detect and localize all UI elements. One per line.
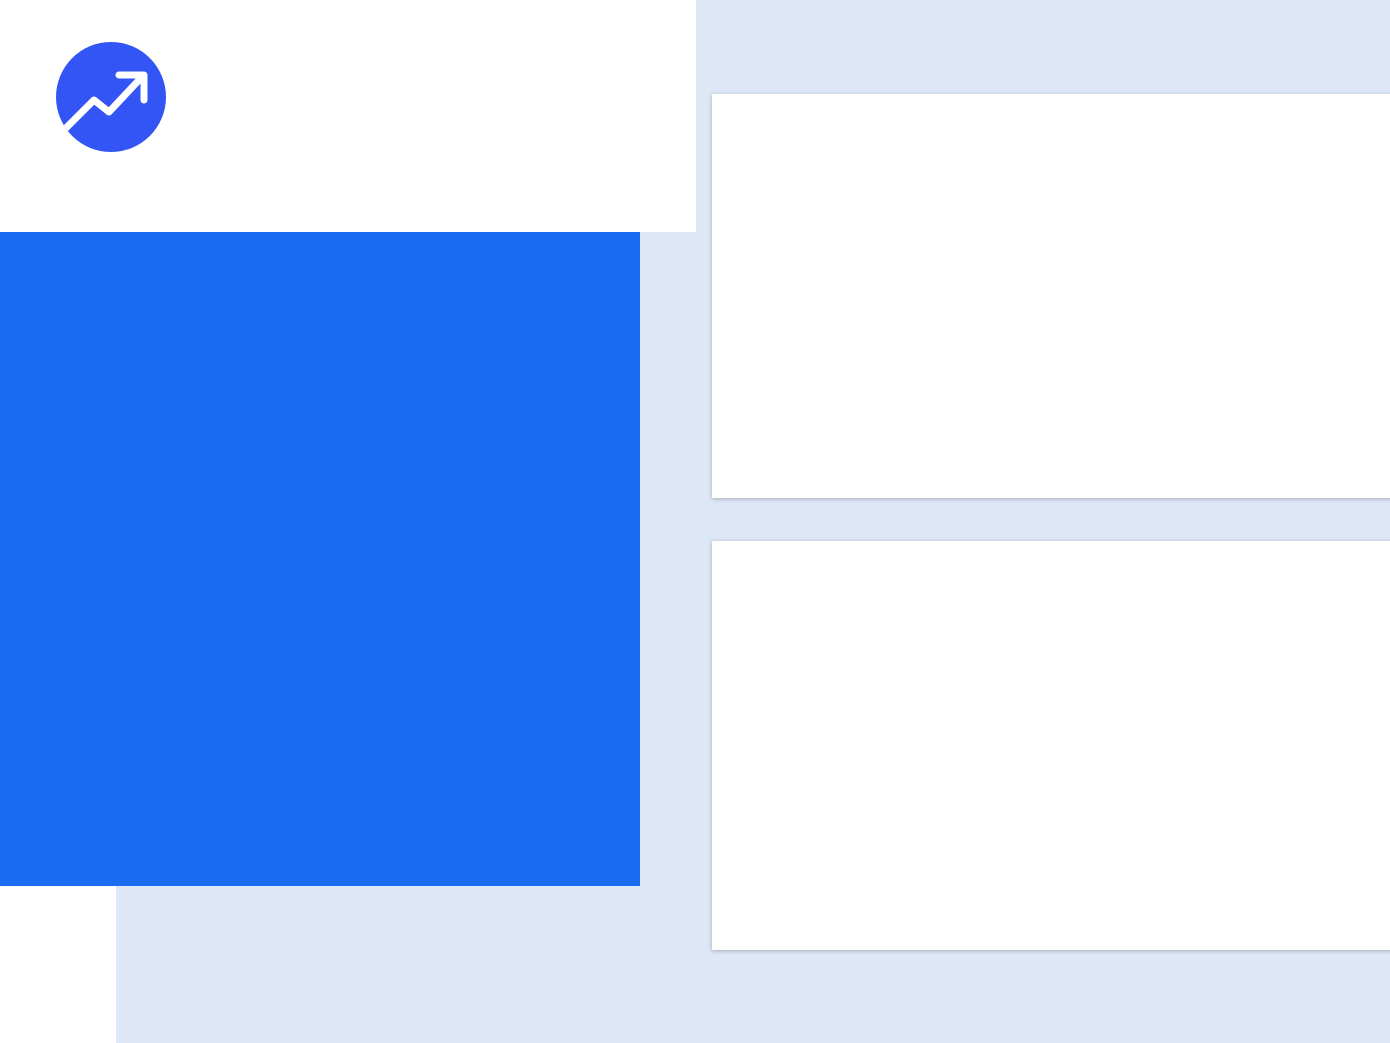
dashboard-screenshot-bottom[interactable] [712,541,1390,950]
hero-blue-panel [0,232,640,886]
hero-content [56,58,656,104]
dashboard-screenshot-top[interactable] [712,94,1390,498]
